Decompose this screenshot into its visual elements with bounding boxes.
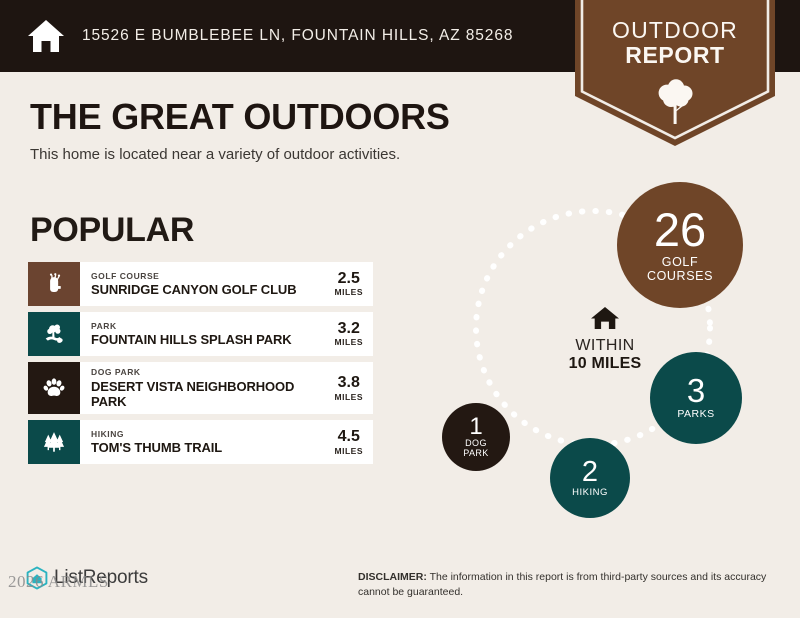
row-body: GOLF COURSE SUNRIDGE CANYON GOLF CLUB 2.… <box>80 262 373 306</box>
list-item-name: SUNRIDGE CANYON GOLF CLUB <box>91 282 327 297</box>
list-item-category: GOLF COURSE <box>91 271 327 282</box>
bubble-golf-courses[interactable]: 26 GOLF COURSES <box>617 182 743 308</box>
list-item-distance: 2.5 MILES <box>327 271 367 298</box>
house-icon <box>590 305 620 331</box>
distance-unit: MILES <box>335 337 363 347</box>
bubble-value: 2 <box>582 458 598 486</box>
house-icon <box>26 16 66 56</box>
row-text: PARK FOUNTAIN HILLS SPLASH PARK <box>91 321 327 348</box>
bubble-hiking[interactable]: 2 HIKING <box>550 438 630 518</box>
bubble-label-line-1: GOLF <box>647 256 713 270</box>
row-body: HIKING TOM'S THUMB TRAIL 4.5 MILES <box>80 420 373 464</box>
list-item-category: DOG PARK <box>91 367 327 378</box>
row-body: PARK FOUNTAIN HILLS SPLASH PARK 3.2 MILE… <box>80 312 373 356</box>
popular-list: GOLF COURSE SUNRIDGE CANYON GOLF CLUB 2.… <box>28 262 373 470</box>
distance-value: 4.5 <box>335 429 363 446</box>
row-text: DOG PARK DESERT VISTA NEIGHBORHOOD PARK <box>91 367 327 409</box>
list-item-category: HIKING <box>91 429 327 440</box>
list-item-name: FOUNTAIN HILLS SPLASH PARK <box>91 332 327 347</box>
logo-text-light: List <box>54 567 83 588</box>
bubble-label: DOG PARK <box>463 439 488 459</box>
list-item[interactable]: HIKING TOM'S THUMB TRAIL 4.5 MILES <box>28 420 373 464</box>
outdoor-report-badge: OUTDOOR REPORT <box>575 0 775 146</box>
bubble-dog-park[interactable]: 1 DOG PARK <box>442 403 510 471</box>
property-address: 15526 E BUMBLEBEE LN, FOUNTAIN HILLS, AZ… <box>82 27 513 45</box>
distance-unit: MILES <box>335 287 363 297</box>
list-item[interactable]: GOLF COURSE SUNRIDGE CANYON GOLF CLUB 2.… <box>28 262 373 306</box>
list-item-distance: 3.2 MILES <box>327 321 367 348</box>
golf-bag-icon <box>41 271 67 297</box>
logo-text-bold: Reports <box>83 567 148 588</box>
pine-trees-icon <box>41 429 67 455</box>
paw-print-icon <box>41 375 67 401</box>
bubble-value: 1 <box>469 415 482 439</box>
bubble-label: PARKS <box>677 409 714 421</box>
list-item-name: TOM'S THUMB TRAIL <box>91 440 327 455</box>
row-icon-wrap <box>28 420 80 464</box>
disclaimer: DISCLAIMER: The information in this repo… <box>358 570 778 600</box>
chart-center-label: WITHIN 10 MILES <box>530 305 680 374</box>
center-label-line-2: 10 MILES <box>530 355 680 373</box>
list-item-distance: 3.8 MILES <box>327 375 367 402</box>
row-icon-wrap <box>28 312 80 356</box>
list-item-category: PARK <box>91 321 327 332</box>
bubble-label: GOLF COURSES <box>647 256 713 284</box>
page-subtitle: This home is located near a variety of o… <box>30 146 400 163</box>
list-item-name: DESERT VISTA NEIGHBORHOOD PARK <box>91 379 327 410</box>
page-title: THE GREAT OUTDOORS <box>30 96 450 138</box>
listreports-logo[interactable]: ListReports <box>24 565 148 591</box>
within-10-miles-chart: 26 GOLF COURSES 3 PARKS 2 HIKING 1 DOG P… <box>418 176 788 536</box>
row-icon-wrap <box>28 262 80 306</box>
disclaimer-label: DISCLAIMER: <box>358 571 427 583</box>
park-tree-icon <box>41 321 67 347</box>
row-body: DOG PARK DESERT VISTA NEIGHBORHOOD PARK … <box>80 362 373 414</box>
bubble-label: HIKING <box>572 488 608 498</box>
bubble-label-line-2: PARK <box>463 449 488 459</box>
listreports-wordmark: ListReports <box>54 567 148 589</box>
list-item-distance: 4.5 MILES <box>327 429 367 456</box>
distance-value: 3.2 <box>335 321 363 338</box>
list-item[interactable]: PARK FOUNTAIN HILLS SPLASH PARK 3.2 MILE… <box>28 312 373 356</box>
center-label-line-1: WITHIN <box>530 337 680 355</box>
listreports-house-icon <box>24 565 50 591</box>
distance-value: 2.5 <box>335 271 363 288</box>
row-text: HIKING TOM'S THUMB TRAIL <box>91 429 327 456</box>
distance-unit: MILES <box>335 392 363 402</box>
bubble-value: 3 <box>687 375 705 407</box>
list-item[interactable]: DOG PARK DESERT VISTA NEIGHBORHOOD PARK … <box>28 362 373 414</box>
row-text: GOLF COURSE SUNRIDGE CANYON GOLF CLUB <box>91 271 327 298</box>
distance-value: 3.8 <box>335 375 363 392</box>
popular-heading: POPULAR <box>30 211 194 250</box>
row-icon-wrap <box>28 362 80 414</box>
bubble-label-line-2: COURSES <box>647 270 713 284</box>
tree-icon <box>654 78 696 124</box>
distance-unit: MILES <box>335 446 363 456</box>
bubble-value: 26 <box>654 207 706 253</box>
